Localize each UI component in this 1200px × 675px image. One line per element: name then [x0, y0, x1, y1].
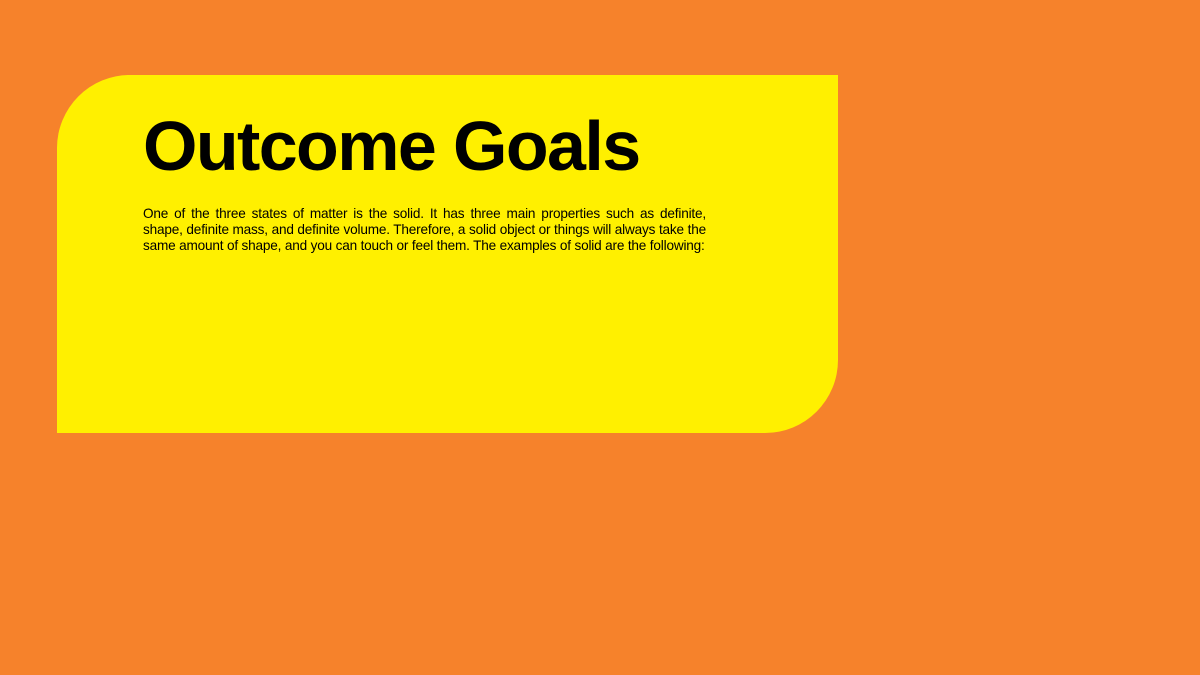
page-title: Outcome Goals: [143, 109, 640, 185]
slide-canvas: Outcome Goals One of the three states of…: [0, 0, 1200, 675]
body-paragraph: One of the three states of matter is the…: [143, 206, 706, 253]
content-card: Outcome Goals One of the three states of…: [57, 75, 838, 433]
